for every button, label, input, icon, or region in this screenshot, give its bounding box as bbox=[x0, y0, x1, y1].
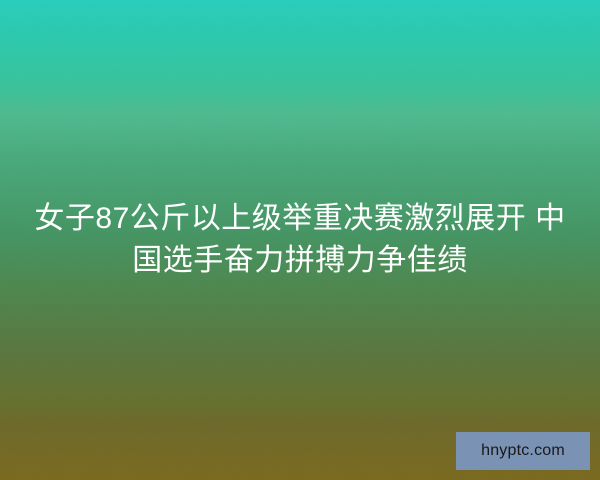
headline-text: 女子87公斤以上级举重决赛激烈展开 中国选手奋力拼搏力争佳绩 bbox=[33, 198, 567, 282]
headline-container: 女子87公斤以上级举重决赛激烈展开 中国选手奋力拼搏力争佳绩 bbox=[0, 0, 600, 480]
banner-image: 女子87公斤以上级举重决赛激烈展开 中国选手奋力拼搏力争佳绩 hnyptc.co… bbox=[0, 0, 600, 480]
watermark-badge: hnyptc.com bbox=[456, 432, 590, 470]
watermark-domain-label: hnyptc.com bbox=[481, 443, 565, 459]
